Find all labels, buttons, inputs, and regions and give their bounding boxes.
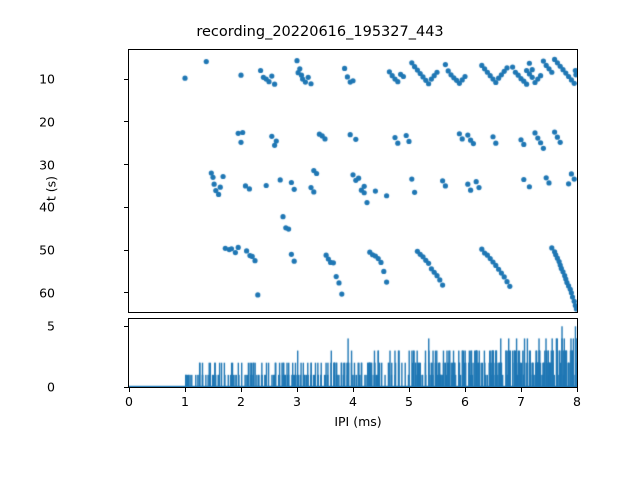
y-tick-mark-scatter bbox=[124, 250, 128, 251]
y-tick-label-scatter: 50 bbox=[0, 243, 55, 258]
x-tick-label: 2 bbox=[221, 394, 261, 409]
x-tick-mark bbox=[521, 388, 522, 392]
x-tick-label: 4 bbox=[333, 394, 373, 409]
x-tick-mark bbox=[409, 388, 410, 392]
x-tick-label: 1 bbox=[165, 394, 205, 409]
x-tick-label: 7 bbox=[501, 394, 541, 409]
x-axis-label: IPI (ms) bbox=[133, 414, 583, 429]
y-tick-label-scatter: 40 bbox=[0, 200, 55, 215]
x-tick-label: 8 bbox=[557, 394, 597, 409]
y-tick-label-hist: 5 bbox=[0, 319, 55, 334]
y-tick-mark-scatter bbox=[124, 121, 128, 122]
y-tick-mark-scatter bbox=[124, 207, 128, 208]
y-axis-label-scatter: t (s) bbox=[44, 129, 59, 249]
y-tick-mark-hist bbox=[124, 326, 128, 327]
x-tick-label: 0 bbox=[109, 394, 149, 409]
page-title: recording_20220616_195327_443 bbox=[0, 24, 640, 40]
scatter-plot-axes bbox=[128, 49, 578, 313]
x-tick-mark bbox=[241, 388, 242, 392]
y-tick-label-scatter: 10 bbox=[0, 72, 55, 87]
x-tick-mark bbox=[465, 388, 466, 392]
y-tick-label-hist: 0 bbox=[0, 380, 55, 395]
y-tick-label-scatter: 20 bbox=[0, 114, 55, 129]
x-tick-label: 3 bbox=[277, 394, 317, 409]
y-tick-mark-scatter bbox=[124, 164, 128, 165]
y-tick-mark-scatter bbox=[124, 79, 128, 80]
y-tick-mark-hist bbox=[124, 387, 128, 388]
histogram-axes bbox=[128, 318, 578, 388]
x-tick-mark bbox=[297, 388, 298, 392]
scatter-points-layer bbox=[129, 50, 577, 312]
x-tick-mark bbox=[129, 388, 130, 392]
histogram-bars-layer bbox=[129, 319, 577, 387]
y-tick-label-scatter: 60 bbox=[0, 285, 55, 300]
x-tick-mark bbox=[353, 388, 354, 392]
x-tick-label: 5 bbox=[389, 394, 429, 409]
y-tick-mark-scatter bbox=[124, 292, 128, 293]
y-tick-label-scatter: 30 bbox=[0, 157, 55, 172]
figure-canvas: recording_20220616_195327_443 t (s) IPI … bbox=[0, 0, 640, 480]
x-tick-mark bbox=[577, 388, 578, 392]
x-tick-mark bbox=[185, 388, 186, 392]
x-tick-label: 6 bbox=[445, 394, 485, 409]
